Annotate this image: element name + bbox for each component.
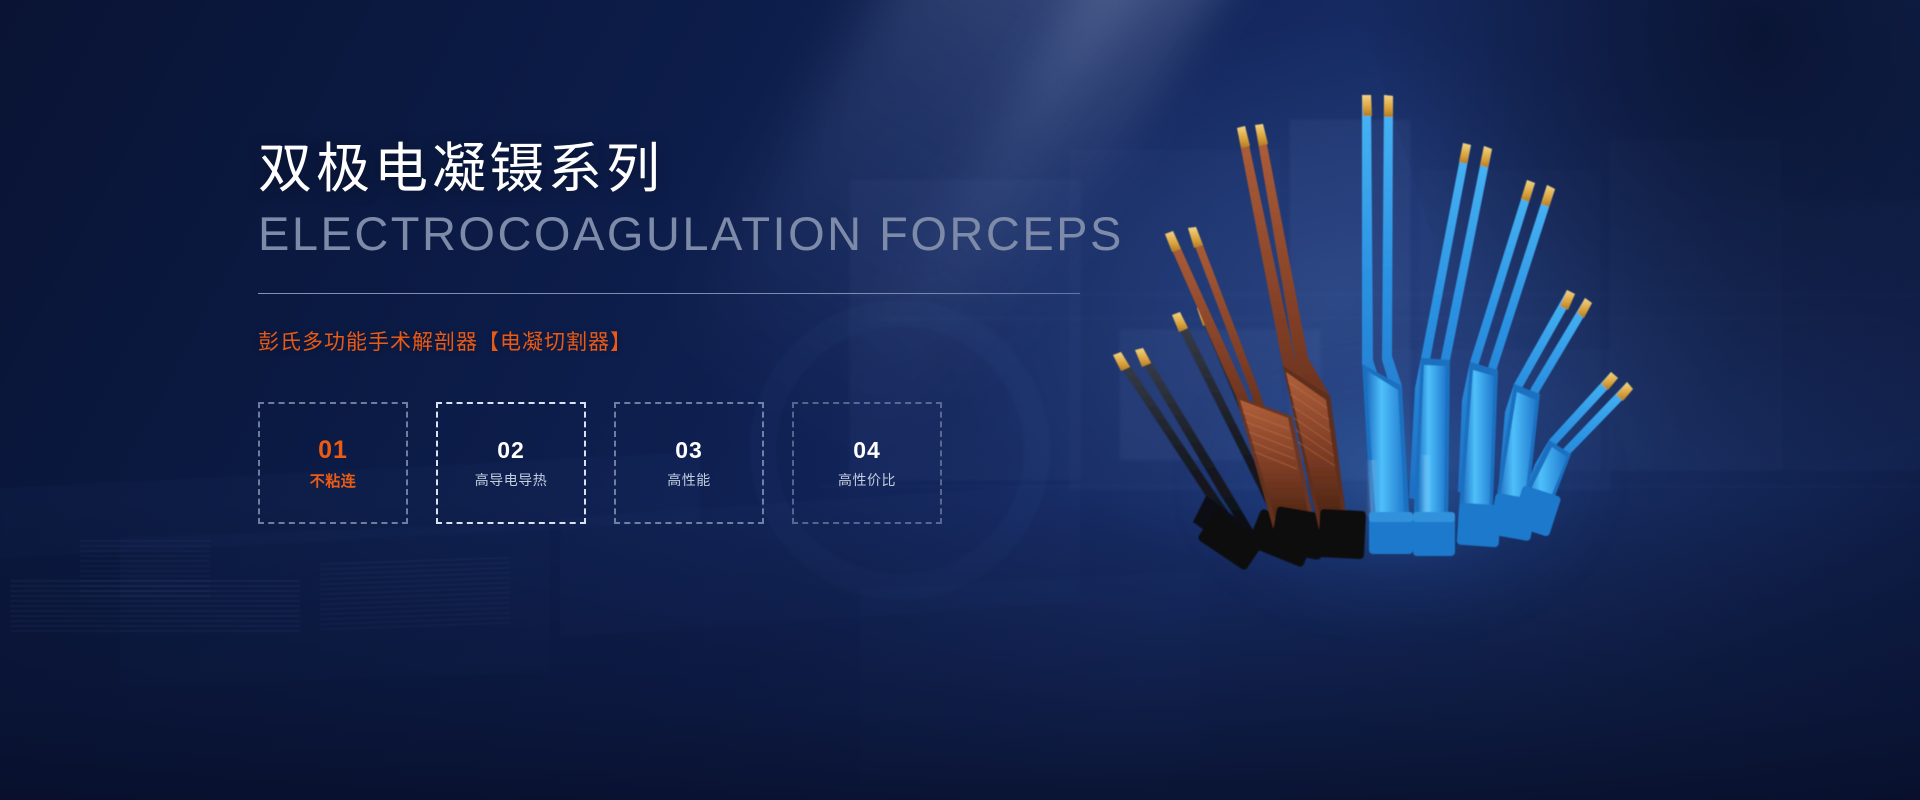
product-subtitle: 彭氏多功能手术解剖器【电凝切割器】 [258, 326, 1158, 356]
feature-card-04[interactable]: 04 高性价比 [792, 402, 942, 524]
feature-label: 高导电导热 [475, 473, 548, 487]
feature-label: 不粘连 [310, 474, 357, 489]
vent-texture-2 [320, 557, 510, 634]
feature-number: 02 [497, 439, 525, 462]
vent-texture-1 [10, 580, 300, 635]
forceps-blue-center-left [1362, 95, 1413, 554]
product-banner: 双极电凝镊系列 ELECTROCOAGULATION FORCEPS 彭氏多功能… [0, 0, 1920, 800]
feature-label: 高性价比 [838, 473, 896, 487]
feature-card-01[interactable]: 01 不粘连 [258, 402, 408, 524]
feature-card-03[interactable]: 03 高性能 [614, 402, 764, 524]
page-title-chinese: 双极电凝镊系列 [258, 140, 1158, 198]
title-divider [258, 293, 1080, 294]
page-title-english: ELECTROCOAGULATION FORCEPS [258, 208, 1158, 260]
feature-number: 03 [675, 439, 703, 462]
banner-content: 双极电凝镊系列 ELECTROCOAGULATION FORCEPS 彭氏多功能… [258, 140, 1158, 524]
feature-number: 04 [853, 439, 881, 462]
vent-texture-3 [80, 540, 210, 600]
feature-label: 高性能 [667, 473, 711, 487]
feature-number: 01 [318, 438, 348, 463]
feature-list: 01 不粘连 02 高导电导热 03 高性能 04 高性价比 [258, 402, 1158, 524]
forceps-product-image [1080, 60, 1640, 620]
feature-card-02[interactable]: 02 高导电导热 [436, 402, 586, 524]
forceps-fan [1113, 95, 1633, 571]
